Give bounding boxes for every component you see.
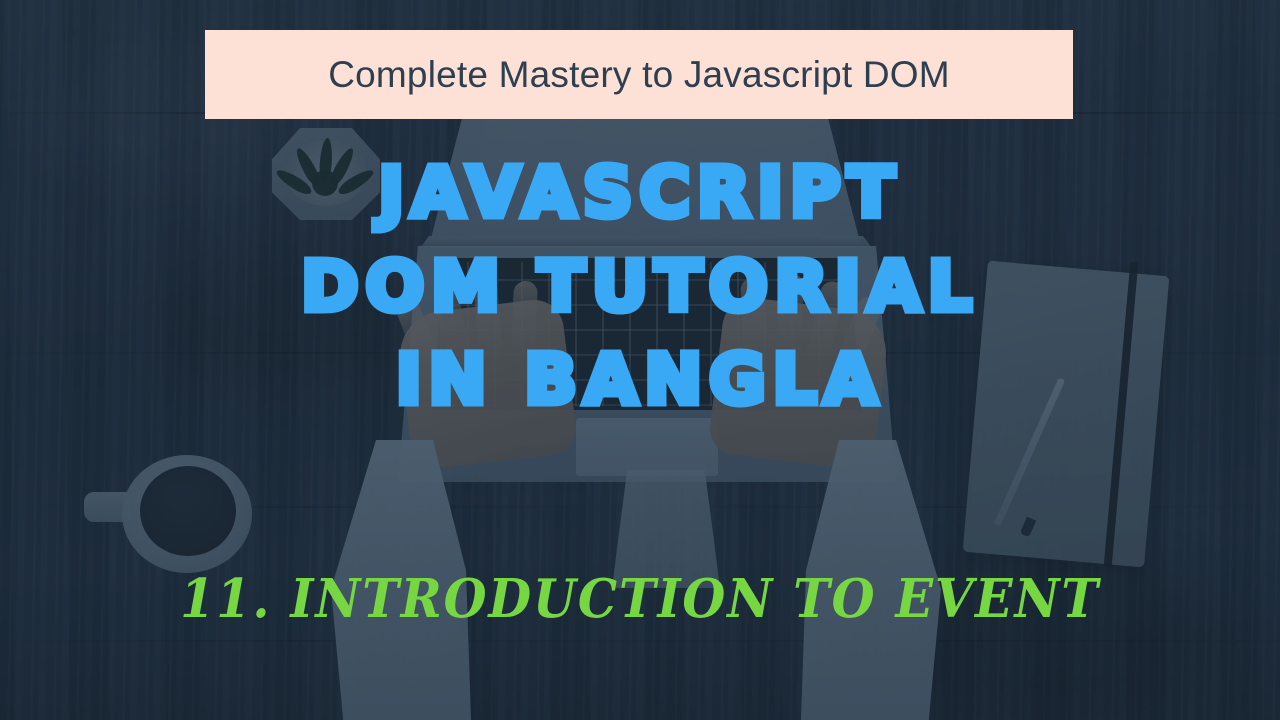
course-title-banner: Complete Mastery to Javascript DOM — [205, 30, 1073, 119]
banner-title-text: Complete Mastery to Javascript DOM — [328, 54, 950, 96]
episode-subtitle: 11. INTRODUCTION TO EVENT — [45, 568, 1235, 630]
video-thumbnail: Complete Mastery to Javascript DOM JAVAS… — [0, 0, 1280, 720]
